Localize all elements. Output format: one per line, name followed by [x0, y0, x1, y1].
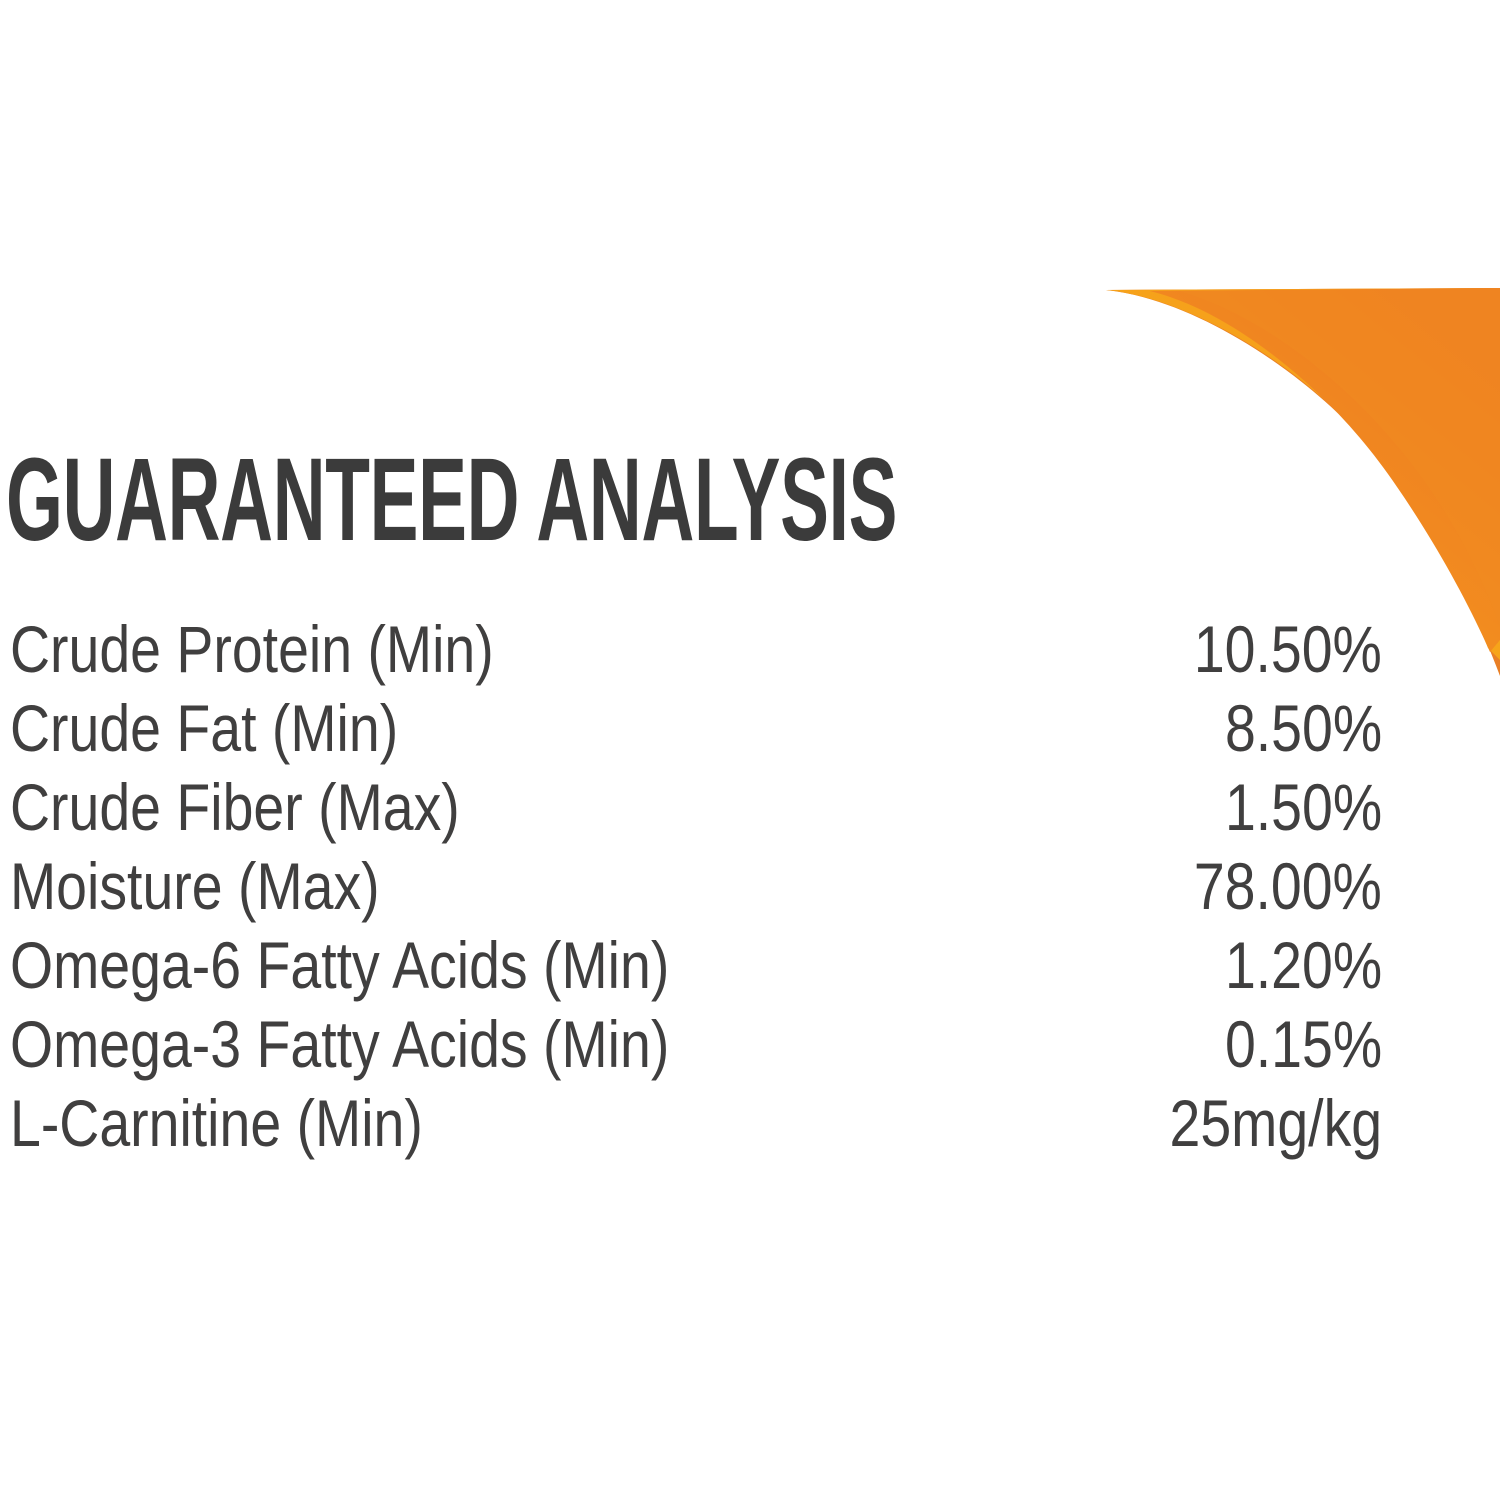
nutrient-label: Omega-3 Fatty Acids (Min) — [10, 1005, 669, 1084]
nutrient-value: 1.50% — [1225, 768, 1382, 847]
table-row: Omega-6 Fatty Acids (Min) 1.20% — [10, 926, 1382, 1005]
table-row: L-Carnitine (Min) 25mg/kg — [10, 1084, 1382, 1163]
page-title: GUARANTEED ANALYSIS — [6, 446, 897, 554]
swoosh-main-body — [1150, 288, 1500, 652]
guaranteed-analysis-panel: GUARANTEED ANALYSIS Crude Protein (Min) … — [0, 0, 1500, 1500]
nutrient-value: 10.50% — [1194, 610, 1382, 689]
nutrient-label: Crude Fiber (Max) — [10, 768, 460, 847]
swoosh-highlight — [1180, 288, 1500, 626]
guaranteed-analysis-table: Crude Protein (Min) 10.50% Crude Fat (Mi… — [10, 610, 1382, 1163]
table-row: Crude Protein (Min) 10.50% — [10, 610, 1382, 689]
table-row: Omega-3 Fatty Acids (Min) 0.15% — [10, 1005, 1382, 1084]
nutrient-value: 0.15% — [1225, 1005, 1382, 1084]
nutrient-label: Omega-6 Fatty Acids (Min) — [10, 926, 669, 1005]
swoosh-light-band — [1106, 288, 1500, 660]
nutrient-label: Crude Fat (Min) — [10, 689, 398, 768]
nutrient-value: 8.50% — [1225, 689, 1382, 768]
nutrient-label: Crude Protein (Min) — [10, 610, 494, 689]
nutrient-label: Moisture (Max) — [10, 847, 380, 926]
nutrient-value: 78.00% — [1194, 847, 1382, 926]
nutrient-value: 25mg/kg — [1169, 1084, 1382, 1163]
nutrient-value: 1.20% — [1225, 926, 1382, 1005]
table-row: Crude Fiber (Max) 1.50% — [10, 768, 1382, 847]
nutrient-label: L-Carnitine (Min) — [10, 1084, 423, 1163]
table-row: Crude Fat (Min) 8.50% — [10, 689, 1382, 768]
table-row: Moisture (Max) 78.00% — [10, 847, 1382, 926]
